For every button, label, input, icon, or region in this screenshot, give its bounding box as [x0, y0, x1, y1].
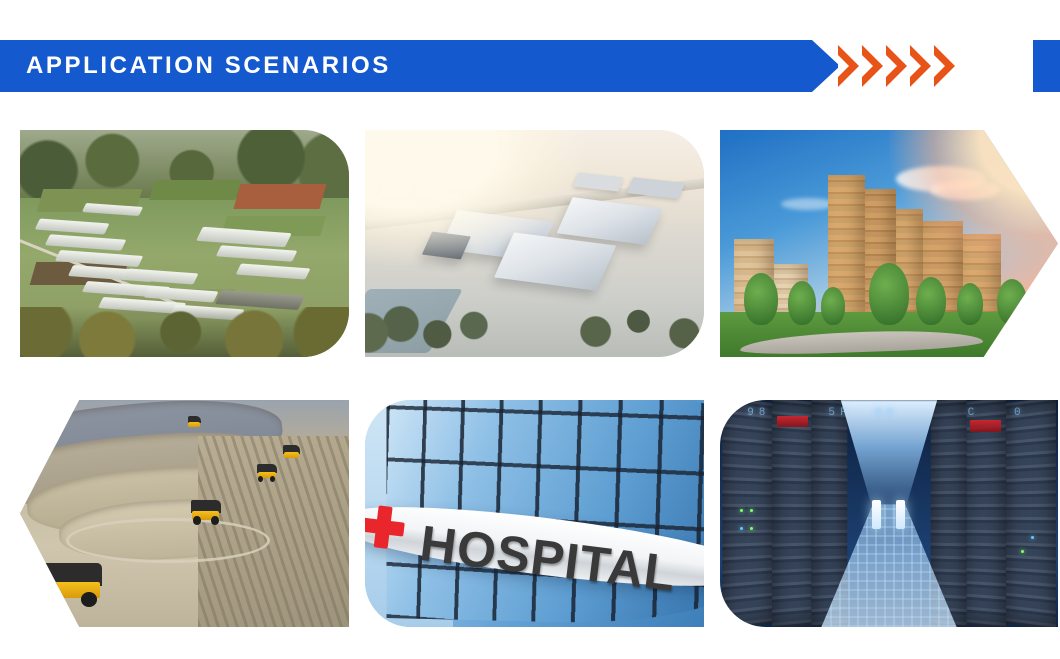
red-cross-icon: [365, 504, 406, 551]
scenario-card-hospital[interactable]: HOSPITAL: [365, 400, 704, 627]
scenario-card-data-center[interactable]: 98 5F 60 C 0 2 A 9 9 6 4 8 8 B E B 8 7 5…: [720, 400, 1058, 627]
header-banner: APPLICATION SCENARIOS: [0, 40, 812, 92]
haul-truck: [188, 416, 201, 430]
haul-truck: [283, 445, 299, 461]
chevron-right-icon: [886, 45, 907, 87]
chevron-right-icon: [838, 45, 859, 87]
scenario-card-agriculture[interactable]: [20, 130, 349, 357]
industrial-park-image: [365, 130, 704, 357]
data-center-image: 98 5F 60 C 0 2 A 9 9 6 4 8 8 B E B 8 7 5…: [720, 400, 1058, 627]
scenario-grid: HOSPITAL 98: [20, 130, 1042, 627]
haul-truck: [257, 464, 277, 482]
hex-code-overlay: 98 5F 60 C 0 2 A 9 9 6 4 8 8 B E B 8 7 5…: [720, 400, 1058, 627]
haul-truck: [40, 563, 103, 606]
residential-image: [720, 130, 1058, 357]
section-header: APPLICATION SCENARIOS: [0, 40, 1060, 92]
banner-arrow-tip: [812, 40, 840, 92]
agriculture-image: [20, 130, 349, 357]
scenario-card-residential[interactable]: [720, 130, 1058, 357]
header-accent-block: [1033, 40, 1060, 92]
hospital-image: HOSPITAL: [365, 400, 704, 627]
chevron-right-icon: [934, 45, 955, 87]
page-title: APPLICATION SCENARIOS: [26, 52, 391, 80]
mining-image: [20, 400, 349, 627]
chevron-right-icon: [910, 45, 931, 87]
chevron-right-icon: [862, 45, 883, 87]
haul-truck: [191, 500, 221, 525]
application-scenarios-page: APPLICATION SCENARIOS: [0, 0, 1060, 659]
scenario-card-industrial-park[interactable]: [365, 130, 704, 357]
scenario-card-mining[interactable]: [20, 400, 349, 627]
